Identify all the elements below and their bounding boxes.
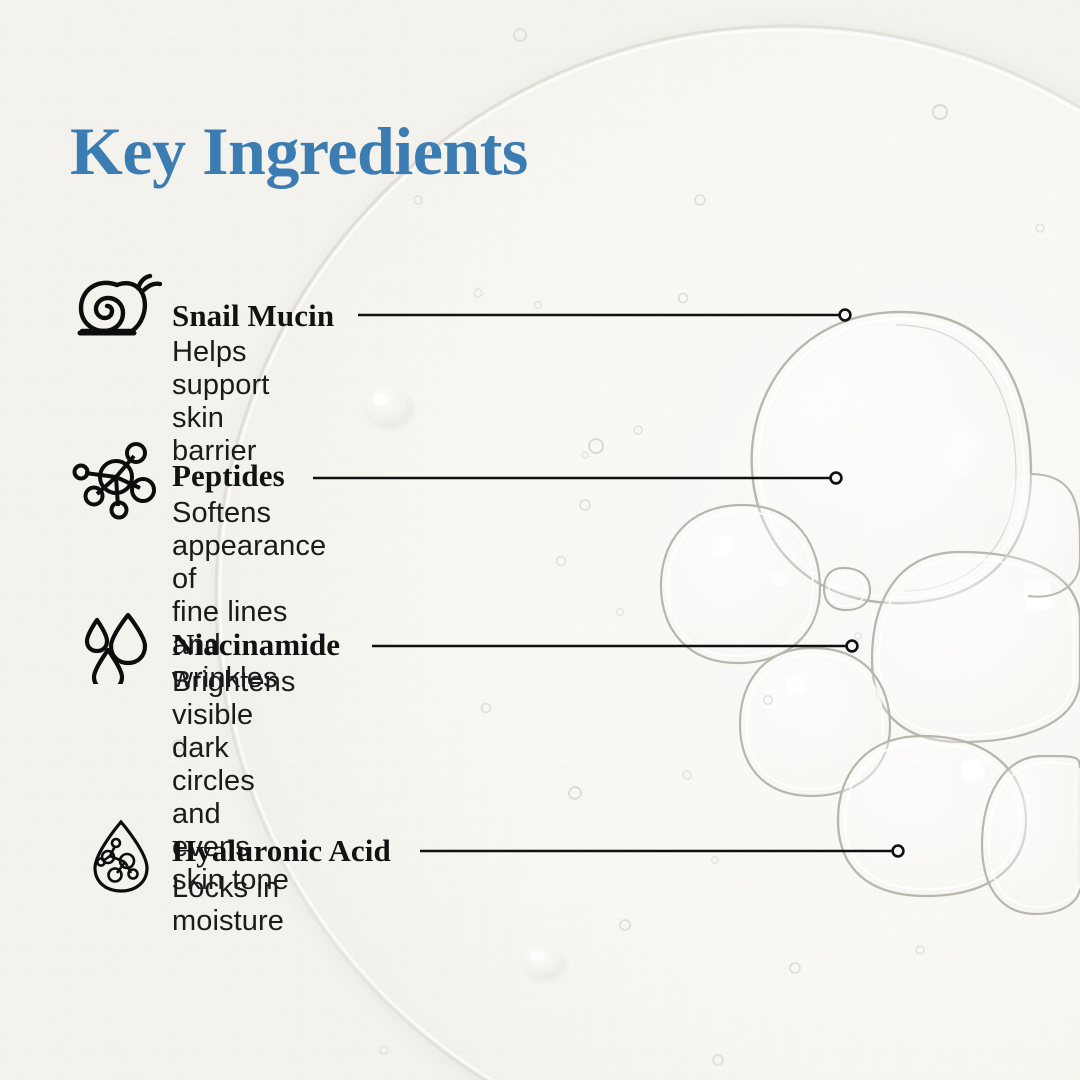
ingredient-name: Hyaluronic Acid bbox=[172, 833, 391, 869]
ingredient-name: Niacinamide bbox=[172, 627, 340, 663]
page-title: Key Ingredients bbox=[70, 112, 528, 191]
ingredient-name: Peptides bbox=[172, 458, 285, 494]
ingredient-description: Helps support skin barrier bbox=[172, 336, 269, 468]
water-droplets-icon bbox=[80, 612, 154, 684]
snail-icon bbox=[72, 272, 164, 346]
droplet-molecule-icon bbox=[85, 818, 157, 894]
ingredient-description: Locks in moisture bbox=[172, 872, 284, 938]
ingredient-name: Snail Mucin bbox=[172, 298, 334, 334]
infographic-canvas: Key Ingredients Snail Mucin Helps suppor… bbox=[0, 0, 1080, 1080]
peptide-molecule-icon bbox=[72, 440, 160, 520]
